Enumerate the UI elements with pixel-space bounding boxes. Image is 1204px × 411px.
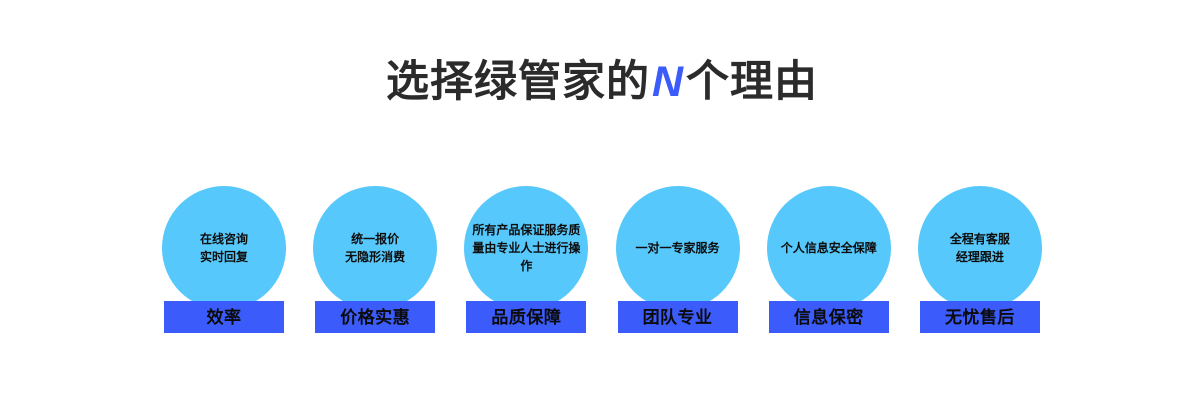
reason-circle-text-4: 一对一专家服务 <box>622 239 734 257</box>
reason-item-1[interactable]: 在线咨询实时回复 效率 <box>164 186 284 310</box>
reason-circle-text-1: 在线咨询实时回复 <box>168 230 280 266</box>
reason-circle-5: 个人信息安全保障 <box>767 186 891 310</box>
reason-bar-label-2: 价格实惠 <box>340 309 410 326</box>
reason-bar-6[interactable]: 无忧售后 <box>920 301 1040 333</box>
reason-circle-text-3: 所有产品保证服务质量由专业人士进行操作 <box>470 221 582 275</box>
reason-bar-2[interactable]: 价格实惠 <box>315 301 435 333</box>
page-title: 选择绿管家的N个理由 <box>0 56 1204 108</box>
reason-circle-3: 所有产品保证服务质量由专业人士进行操作 <box>464 186 588 310</box>
reason-bar-label-1: 效率 <box>207 309 242 326</box>
reason-bar-4[interactable]: 团队专业 <box>618 301 738 333</box>
reason-circle-text-6: 全程有客服经理跟进 <box>924 230 1036 266</box>
reason-item-6[interactable]: 全程有客服经理跟进 无忧售后 <box>920 186 1040 310</box>
reason-circle-text-2: 统一报价无隐形消费 <box>319 230 431 266</box>
reason-bar-label-5: 信息保密 <box>794 309 864 326</box>
page-title-prefix: 选择绿管家的 <box>386 58 650 106</box>
reason-circle-text-5: 个人信息安全保障 <box>773 239 885 257</box>
reason-bar-label-6: 无忧售后 <box>945 309 1015 326</box>
reason-circle-1: 在线咨询实时回复 <box>162 186 286 310</box>
reason-bar-label-4: 团队专业 <box>643 309 713 326</box>
page-title-accent-letter: N <box>650 58 686 106</box>
reason-item-2[interactable]: 统一报价无隐形消费 价格实惠 <box>315 186 435 310</box>
reason-circle-4: 一对一专家服务 <box>616 186 740 310</box>
reason-bar-1[interactable]: 效率 <box>164 301 284 333</box>
page-title-suffix: 个理由 <box>686 58 818 106</box>
reason-item-5[interactable]: 个人信息安全保障 信息保密 <box>769 186 889 310</box>
reason-circle-6: 全程有客服经理跟进 <box>918 186 1042 310</box>
reason-circle-2: 统一报价无隐形消费 <box>313 186 437 310</box>
reason-item-3[interactable]: 所有产品保证服务质量由专业人士进行操作 品质保障 <box>466 186 586 310</box>
reasons-row: 在线咨询实时回复 效率 统一报价无隐形消费 价格实惠 所有产品保证服务质量由专业… <box>164 186 1040 336</box>
reason-bar-5[interactable]: 信息保密 <box>769 301 889 333</box>
reason-bar-3[interactable]: 品质保障 <box>466 301 586 333</box>
reason-bar-label-3: 品质保障 <box>491 309 561 326</box>
reason-item-4[interactable]: 一对一专家服务 团队专业 <box>618 186 738 310</box>
